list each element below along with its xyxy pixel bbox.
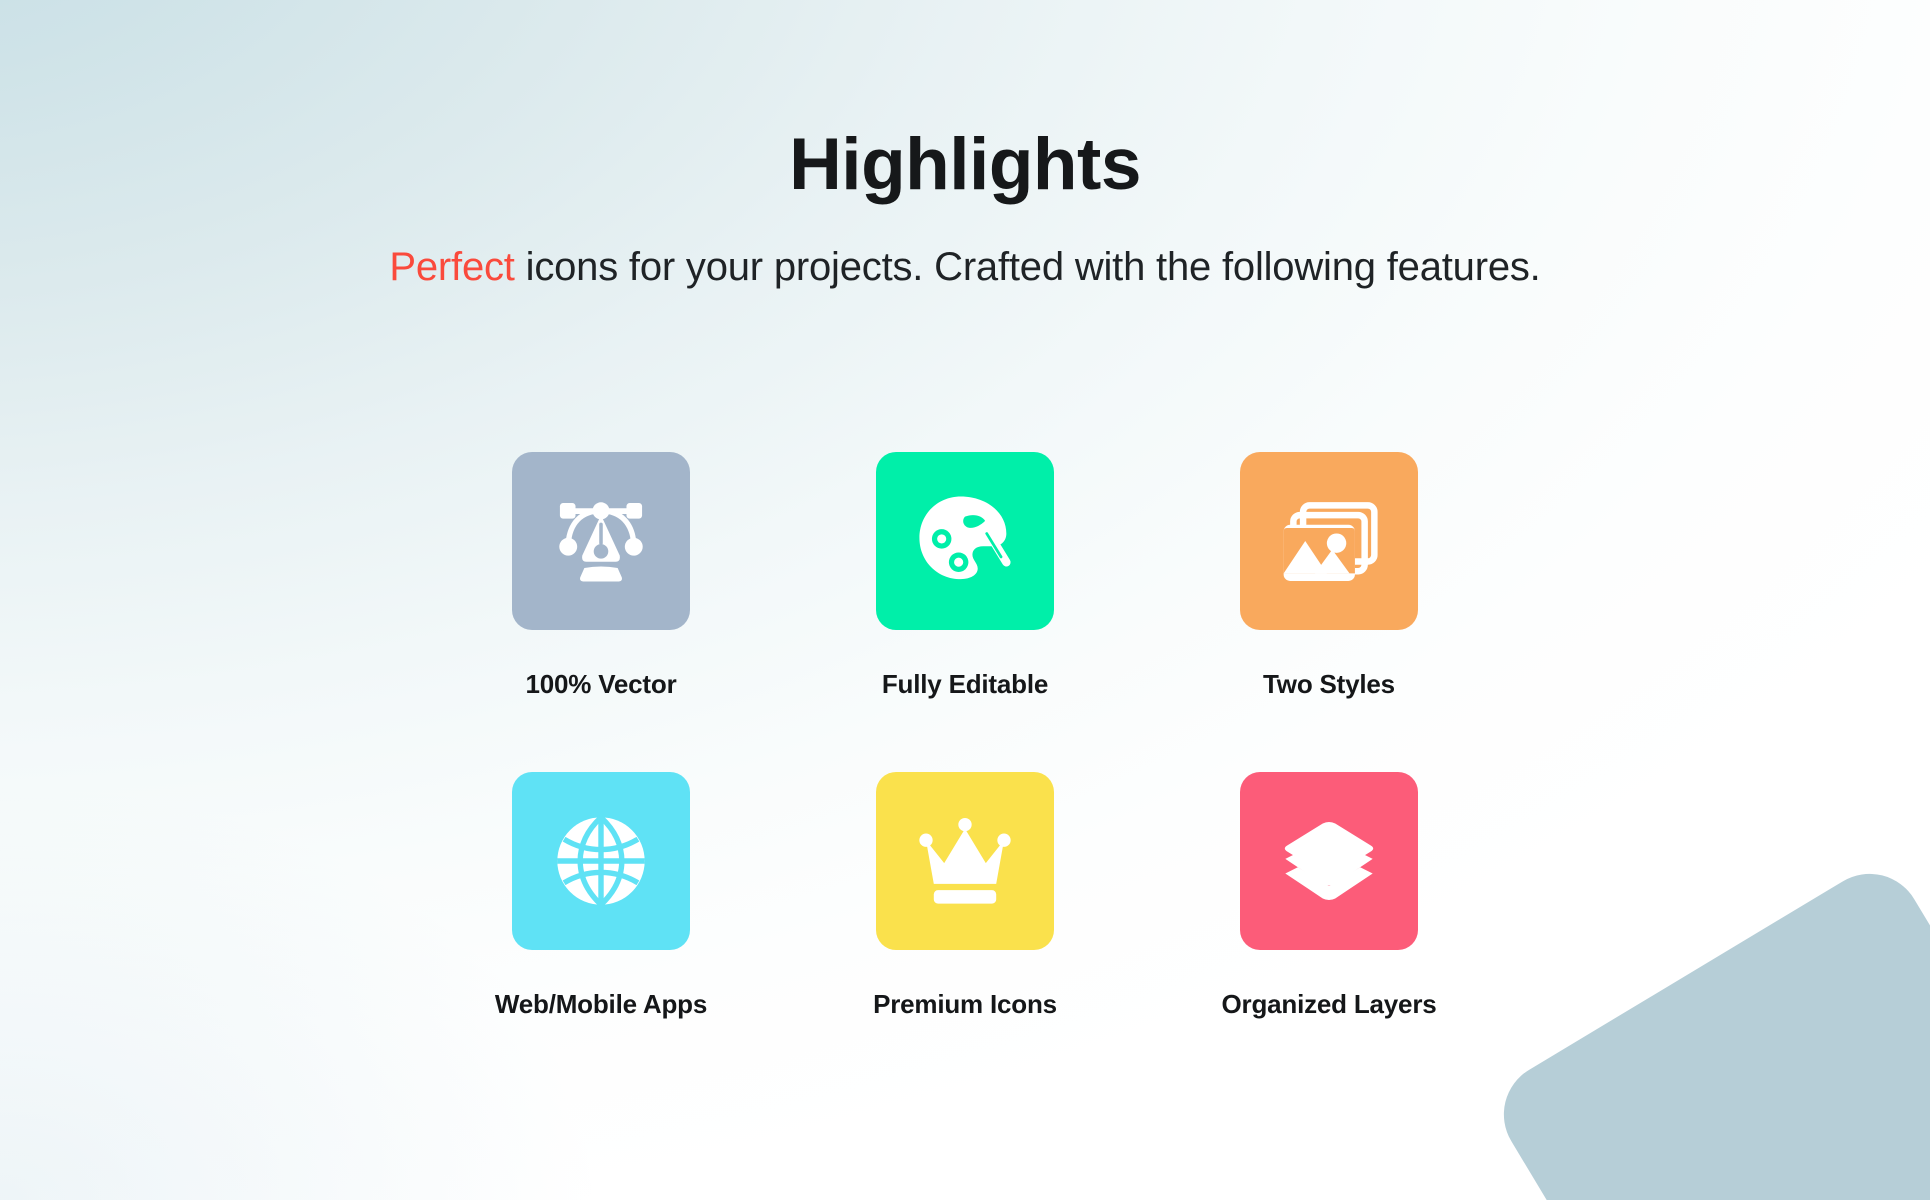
feature-item-editable[interactable]: Fully Editable (874, 452, 1056, 772)
feature-item-layers[interactable]: Organized Layers (1238, 772, 1420, 1092)
feature-tile-vector[interactable] (512, 452, 690, 630)
feature-label-apps: Web/Mobile Apps (495, 989, 707, 1020)
layers-icon (1277, 809, 1381, 913)
feature-item-apps[interactable]: Web/Mobile Apps (510, 772, 692, 1092)
pen-tool-icon (549, 489, 653, 593)
feature-label-styles: Two Styles (1263, 669, 1395, 700)
feature-label-layers: Organized Layers (1222, 989, 1437, 1020)
crown-icon (913, 809, 1017, 913)
feature-label-premium: Premium Icons (873, 989, 1057, 1020)
feature-tile-styles[interactable] (1240, 452, 1418, 630)
photo-stack-icon (1275, 487, 1383, 595)
paint-palette-icon (912, 488, 1018, 594)
header: Highlights Perfect icons for your projec… (0, 128, 1930, 291)
feature-item-styles[interactable]: Two Styles (1238, 452, 1420, 772)
feature-item-premium[interactable]: Premium Icons (874, 772, 1056, 1092)
feature-tile-premium[interactable] (876, 772, 1054, 950)
subtitle-rest: icons for your projects. Crafted with th… (515, 245, 1541, 289)
feature-label-vector: 100% Vector (525, 669, 676, 700)
feature-item-vector[interactable]: 100% Vector (510, 452, 692, 772)
slide-canvas: Highlights Perfect icons for your projec… (0, 0, 1930, 1200)
feature-tile-editable[interactable] (876, 452, 1054, 630)
feature-tile-apps[interactable] (512, 772, 690, 950)
feature-grid: 100% Vector (0, 452, 1930, 1092)
subtitle-accent-word: Perfect (389, 245, 514, 289)
globe-icon (549, 809, 653, 913)
feature-tile-layers[interactable] (1240, 772, 1418, 950)
feature-label-editable: Fully Editable (882, 669, 1048, 700)
page-title: Highlights (0, 128, 1930, 201)
page-subtitle: Perfect icons for your projects. Crafted… (0, 243, 1930, 291)
